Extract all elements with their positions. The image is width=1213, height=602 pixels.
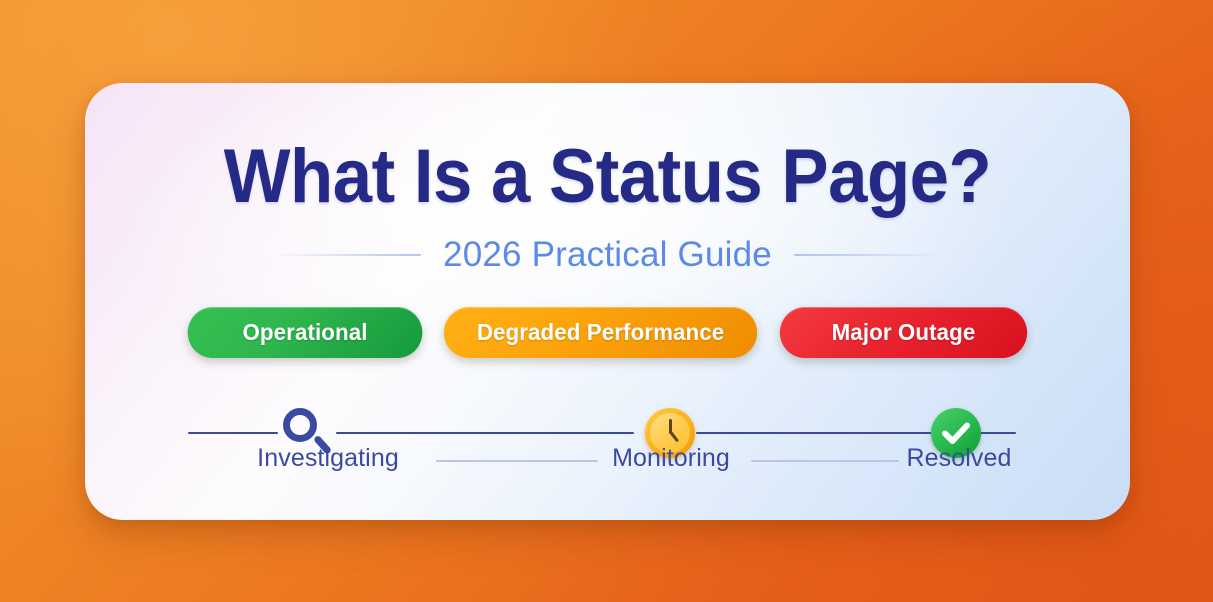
status-badge-operational[interactable]: Operational <box>188 307 423 358</box>
status-page-card: What Is a Status Page? 2026 Practical Gu… <box>85 83 1130 520</box>
timeline-label-resolved: Resolved <box>906 444 1011 473</box>
magnifier-ring <box>283 408 317 442</box>
status-badge-major-outage[interactable]: Major Outage <box>779 307 1026 358</box>
timeline-label-connector-2 <box>751 460 899 462</box>
page-subtitle: 2026 Practical Guide <box>443 235 772 275</box>
subtitle-rule-left <box>271 254 421 256</box>
page-title: What Is a Status Page? <box>122 139 1094 215</box>
timeline-label-row: Investigating Monitoring Resolved <box>188 444 1016 478</box>
timeline-label-investigating: Investigating <box>257 444 399 473</box>
subtitle-row: 2026 Practical Guide <box>85 233 1130 277</box>
status-badge-degraded[interactable]: Degraded Performance <box>444 307 757 358</box>
timeline-label-connector-1 <box>436 460 598 462</box>
subtitle-rule-right <box>794 254 944 256</box>
status-badge-group: Operational Degraded Performance Major O… <box>85 306 1130 358</box>
timeline-label-monitoring: Monitoring <box>612 444 730 473</box>
